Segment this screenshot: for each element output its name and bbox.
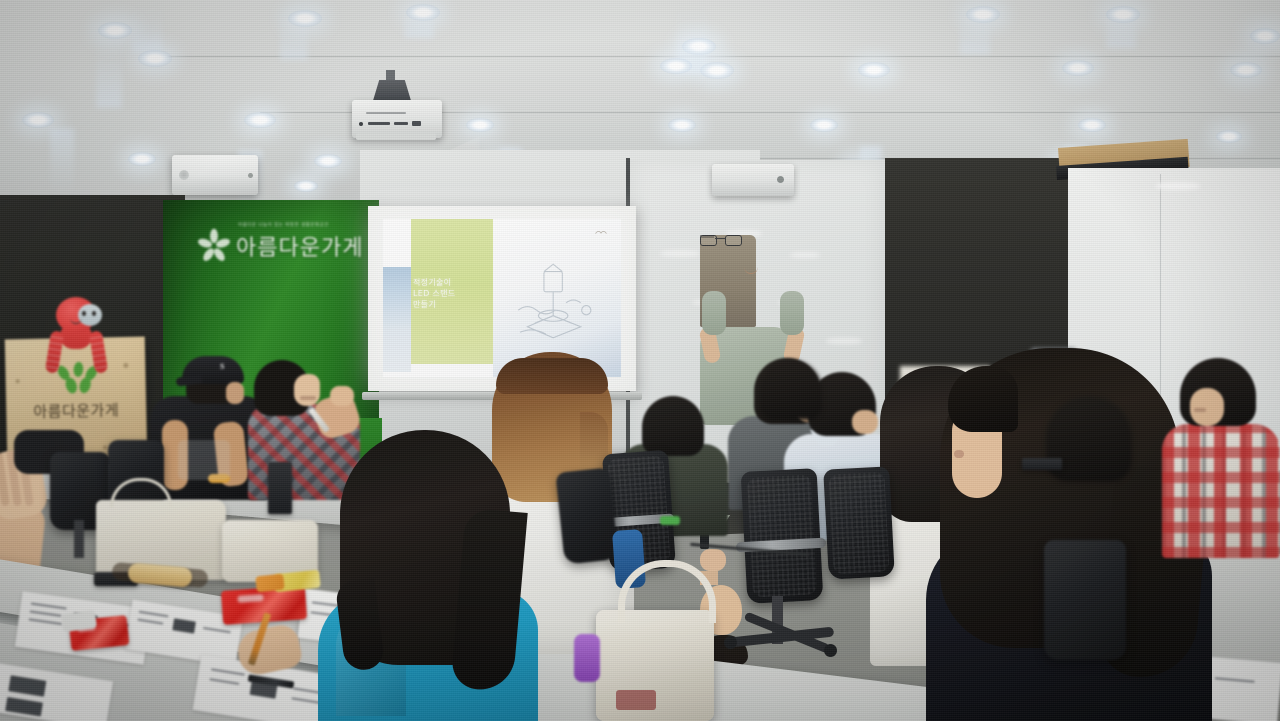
bird-silhouette-icon [595,229,607,237]
ceiling-downlight [1250,28,1280,44]
chair-caster [824,644,837,657]
ceiling-downlight [288,10,322,27]
slide-photo-left [383,267,411,372]
ceiling-downlight [466,118,494,132]
ceiling-downlight [660,58,692,74]
ceiling-downlight [700,62,734,79]
pink-monkey-plush-icon [42,297,110,375]
ceiling-downlight [128,152,156,166]
classroom-photo-scene: 아름다운 나눔이 있는 따뜻한 생활문화공간 아름다운가게 아름다운가게 [0,0,1280,721]
ceiling-downlight [1216,130,1242,143]
ceiling-downlight [810,118,838,132]
slide-title-line3: 만들기 [413,299,491,310]
ceiling-downlight [668,118,696,132]
attendee-red-plaid-shirt [1162,358,1280,558]
wall-ac-unit-icon [712,164,794,196]
office-chair[interactable] [1044,540,1126,660]
led-lamp-stand-sketch-icon [509,255,601,347]
presenter-sleeve-right [780,291,804,335]
snack-orange-packet[interactable] [255,574,285,593]
ceiling-downlight [1230,62,1262,78]
whiteboard-glare [1155,182,1201,190]
ceiling-downlight [138,50,172,67]
ceiling-speaker-left [172,155,258,195]
chair-caster [724,636,737,649]
presenter-hands [700,549,726,571]
smartphone-icon[interactable] [268,462,292,514]
smartphone-icon[interactable] [1022,458,1062,470]
ceiling-downlight [1062,60,1094,76]
slide-title-line1: 적정기술이 [413,277,491,288]
ceiling-downlight [682,38,716,55]
slide-title-line2: LED 스탠드 [413,288,491,299]
small-green-object [660,516,680,525]
wall-logo-text: 아름다운가게 [236,230,363,262]
slide-title: 적정기술이 LED 스탠드 만들기 [413,277,491,310]
ceiling-downlight [294,180,318,192]
ceiling-downlight [1106,6,1140,23]
water-bottle[interactable] [574,634,600,682]
attendee-teal-shirt [318,430,538,721]
wood-sign-text: 아름다운가게 [6,399,146,423]
five-petal-flower-icon [196,228,232,264]
ceiling-downlight [98,22,132,39]
office-chair[interactable] [823,466,895,579]
tote-bag-print [616,690,656,710]
wall-logo: 아름다운 나눔이 있는 따뜻한 생활문화공간 아름다운가게 [196,222,352,268]
ceiling-downlight [858,62,890,78]
office-chair[interactable] [555,467,618,564]
wall-logo-tagline: 아름다운 나눔이 있는 따뜻한 생활문화공간 [238,222,329,228]
attendee-back-head [1046,396,1132,492]
projector-ceiling-plate [356,133,436,140]
ceiling-downlight [966,6,1000,23]
office-chair[interactable] [741,468,824,604]
ceiling-downlight [314,154,342,168]
presenter-sleeve-left [702,291,726,335]
attendee-back-head [760,360,822,426]
ceiling-downlight [1078,118,1106,132]
ceiling-downlight [22,112,54,128]
ceiling-downlight [244,112,276,128]
ceiling-downlight [406,4,440,21]
